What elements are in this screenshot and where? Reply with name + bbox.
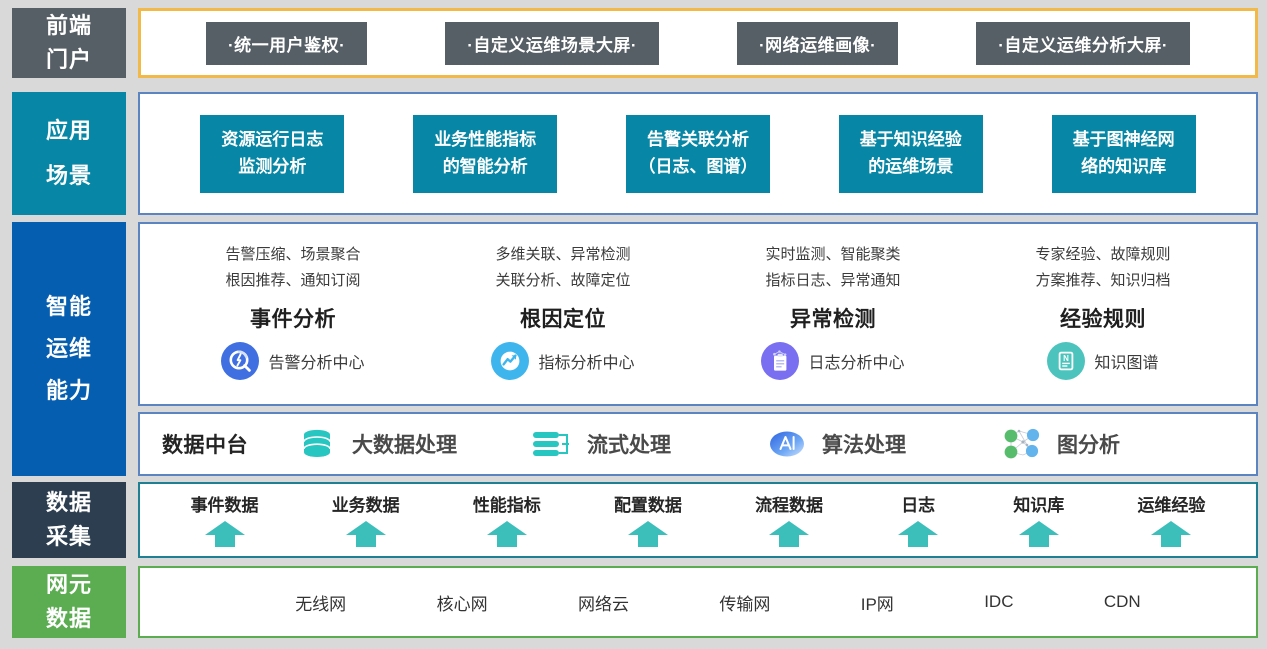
aiops-bullet: 根因推荐、通知订阅 (225, 268, 360, 294)
log-clipboard-icon (761, 342, 799, 380)
collection-item-label: 流程数据 (755, 491, 823, 516)
database-stack-icon (294, 425, 340, 463)
portal-item[interactable]: ·自定义运维分析大屏· (976, 22, 1190, 65)
aiops-center-entry[interactable]: 日志分析中心 (761, 342, 904, 380)
metric-trend-icon (491, 342, 529, 380)
data-middle-platform-row: 数据中台 大数据处理 (140, 414, 1256, 474)
collection-item[interactable]: 配置数据 (614, 491, 682, 549)
collection-item[interactable]: 业务数据 (332, 491, 400, 549)
network-element-item[interactable]: IDC (984, 592, 1013, 612)
svg-text:N: N (1064, 354, 1070, 363)
midplatform-item-label: 大数据处理 (352, 429, 457, 459)
aiops-bullet: 方案推荐、知识归档 (1035, 268, 1170, 294)
aiops-column-anomaly-detection: 实时监测、智能聚类 指标日志、异常通知 异常检测 (708, 242, 958, 380)
sidebar-label-line: 网元 (46, 568, 92, 602)
application-card[interactable]: 资源运行日志 监测分析 (200, 115, 344, 193)
sidebar-label-line: 场景 (46, 159, 92, 193)
sidebar-label-line: 运维 (46, 332, 92, 366)
midplatform-item-stream[interactable]: 流式处理 (529, 425, 764, 463)
sidebar-item-network-element-data: 网元 数据 (12, 566, 126, 638)
network-element-item[interactable]: IP网 (861, 590, 894, 615)
application-scenario-panel: 资源运行日志 监测分析 业务性能指标 的智能分析 告警关联分析 （日志、图谱） … (138, 92, 1258, 215)
collection-item[interactable]: 流程数据 (755, 491, 823, 549)
midplatform-item-bigdata[interactable]: 大数据处理 (294, 425, 529, 463)
arrow-up-icon (344, 519, 388, 549)
aiops-column-title: 事件分析 (250, 303, 336, 333)
collection-item[interactable]: 性能指标 (473, 491, 541, 549)
aiops-center-label: 知识图谱 (1094, 349, 1158, 373)
sidebar-label-line: 能力 (46, 374, 92, 408)
aiops-center-entry[interactable]: N 知识图谱 (1047, 342, 1158, 380)
sidebar-label-line: 应用 (46, 114, 92, 148)
aiops-bullet: 多维关联、异常检测 (495, 242, 630, 268)
application-card-line2: 的运维场景 (868, 154, 953, 180)
collection-item[interactable]: 运维经验 (1137, 491, 1205, 549)
collection-item-label: 日志 (901, 491, 935, 516)
sidebar-label-line: 智能 (46, 290, 92, 324)
network-element-item[interactable]: CDN (1104, 592, 1141, 612)
aiops-column-root-cause: 多维关联、异常检测 关联分析、故障定位 根因定位 指标分析中心 (438, 242, 688, 380)
collection-item-label: 配置数据 (614, 491, 682, 516)
arrow-up-icon (896, 519, 940, 549)
aiops-column-title: 异常检测 (790, 303, 876, 333)
network-element-row: 无线网 核心网 网络云 传输网 IP网 IDC CDN (140, 568, 1256, 636)
stream-flow-icon (529, 425, 575, 463)
network-element-item[interactable]: 网络云 (578, 590, 629, 615)
sidebar-item-frontend-portal: 前端 门户 (12, 8, 126, 78)
application-card-line1: 告警关联分析 (647, 127, 749, 153)
data-middle-platform-panel: 数据中台 大数据处理 (138, 412, 1258, 476)
portal-item[interactable]: ·统一用户鉴权· (206, 22, 367, 65)
arrow-up-icon (1149, 519, 1193, 549)
alarm-radar-icon (221, 342, 259, 380)
application-card-line2: 监测分析 (238, 154, 306, 180)
arrow-up-icon (485, 519, 529, 549)
arrow-up-icon (767, 519, 811, 549)
aiops-bullet: 专家经验、故障规则 (1035, 242, 1170, 268)
aiops-bullet: 关联分析、故障定位 (495, 268, 630, 294)
aiops-bullet: 实时监测、智能聚类 (765, 242, 900, 268)
portal-items-row: ·统一用户鉴权· ·自定义运维场景大屏· ·网络运维画像· ·自定义运维分析大屏… (141, 11, 1255, 75)
collection-item[interactable]: 日志 (896, 491, 940, 549)
aiops-column-title: 经验规则 (1060, 303, 1146, 333)
application-card[interactable]: 基于图神经网 络的知识库 (1052, 115, 1196, 193)
midplatform-item-graph[interactable]: 图分析 (999, 425, 1234, 463)
midplatform-item-label: 图分析 (1057, 429, 1120, 459)
aiops-center-entry[interactable]: 告警分析中心 (221, 342, 364, 380)
knowledge-doc-icon: N (1047, 342, 1085, 380)
sidebar-label-line: 门户 (46, 43, 92, 77)
aiops-center-label: 日志分析中心 (808, 349, 904, 373)
ai-algorithm-icon (764, 425, 810, 463)
arrow-up-icon (203, 519, 247, 549)
data-collection-panel: 事件数据 业务数据 性能指标 配置数据 流程数据 日志 知识库 (138, 482, 1258, 558)
midplatform-item-label: 流式处理 (587, 429, 671, 459)
aiops-center-label: 指标分析中心 (538, 349, 634, 373)
aiops-column-experience-rules: 专家经验、故障规则 方案推荐、知识归档 经验规则 N 知识图谱 (978, 242, 1228, 380)
application-card[interactable]: 业务性能指标 的智能分析 (413, 115, 557, 193)
collection-item[interactable]: 事件数据 (191, 491, 259, 549)
collection-item[interactable]: 知识库 (1013, 491, 1064, 549)
arrow-up-icon (626, 519, 670, 549)
aiops-capability-panel: 告警压缩、场景聚合 根因推荐、通知订阅 事件分析 告警分析中心 多维关联、异常检… (138, 222, 1258, 406)
aiops-column-event-analysis: 告警压缩、场景聚合 根因推荐、通知订阅 事件分析 告警分析中心 (168, 242, 418, 380)
arrow-up-icon (1017, 519, 1061, 549)
aiops-column-title: 根因定位 (520, 303, 606, 333)
network-element-item[interactable]: 传输网 (719, 590, 770, 615)
network-element-data-panel: 无线网 核心网 网络云 传输网 IP网 IDC CDN (138, 566, 1258, 638)
midplatform-item-label: 算法处理 (822, 429, 906, 459)
collection-item-label: 事件数据 (191, 491, 259, 516)
network-element-item[interactable]: 核心网 (437, 590, 488, 615)
application-card-line2: 络的知识库 (1081, 154, 1166, 180)
sidebar-item-application-scenario: 应用 场景 (12, 92, 126, 215)
application-card[interactable]: 基于知识经验 的运维场景 (839, 115, 983, 193)
collection-item-label: 运维经验 (1137, 491, 1205, 516)
aiops-bullet: 指标日志、异常通知 (765, 268, 900, 294)
data-collection-row: 事件数据 业务数据 性能指标 配置数据 流程数据 日志 知识库 (140, 484, 1256, 556)
application-card-line1: 业务性能指标 (434, 127, 536, 153)
sidebar-label-line: 数据 (46, 486, 92, 520)
collection-item-label: 业务数据 (332, 491, 400, 516)
portal-item[interactable]: ·自定义运维场景大屏· (445, 22, 659, 65)
sidebar-label-line: 数据 (46, 602, 92, 636)
sidebar-label-line: 采集 (46, 520, 92, 554)
application-card-line1: 基于图神经网 (1073, 127, 1175, 153)
application-card-line1: 基于知识经验 (860, 127, 962, 153)
collection-item-label: 知识库 (1013, 491, 1064, 516)
network-element-item[interactable]: 无线网 (295, 590, 346, 615)
frontend-portal-panel: ·统一用户鉴权· ·自定义运维场景大屏· ·网络运维画像· ·自定义运维分析大屏… (138, 8, 1258, 78)
application-card-line2: 的智能分析 (443, 154, 528, 180)
aiops-columns-row: 告警压缩、场景聚合 根因推荐、通知订阅 事件分析 告警分析中心 多维关联、异常检… (140, 224, 1256, 404)
sidebar-item-aiops-capability: 智能 运维 能力 (12, 222, 126, 476)
aiops-center-label: 告警分析中心 (268, 349, 364, 373)
sidebar-label-line: 前端 (46, 9, 92, 43)
data-middle-platform-title: 数据中台 (162, 429, 248, 459)
application-cards-row: 资源运行日志 监测分析 业务性能指标 的智能分析 告警关联分析 （日志、图谱） … (140, 94, 1256, 213)
graph-network-icon (999, 425, 1045, 463)
aiops-bullet: 告警压缩、场景聚合 (225, 242, 360, 268)
sidebar-item-data-collection: 数据 采集 (12, 482, 126, 558)
application-card-line2: （日志、图谱） (638, 154, 757, 180)
midplatform-item-algorithm[interactable]: 算法处理 (764, 425, 999, 463)
portal-item[interactable]: ·网络运维画像· (737, 22, 898, 65)
collection-item-label: 性能指标 (473, 491, 541, 516)
aiops-center-entry[interactable]: 指标分析中心 (491, 342, 634, 380)
application-card[interactable]: 告警关联分析 （日志、图谱） (626, 115, 770, 193)
application-card-line1: 资源运行日志 (221, 127, 323, 153)
